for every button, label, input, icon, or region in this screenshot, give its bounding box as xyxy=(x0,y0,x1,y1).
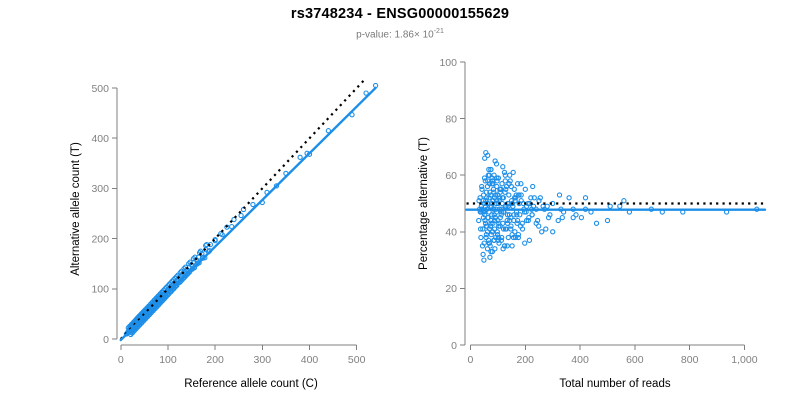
data-point xyxy=(523,187,527,191)
x-tick-label: 1,000 xyxy=(731,354,757,366)
y-axis-title: Alternative allele count (T) xyxy=(70,142,82,276)
data-point xyxy=(503,179,507,183)
fit-line xyxy=(121,88,376,340)
data-point xyxy=(488,255,492,259)
data-point xyxy=(531,184,535,188)
x-tick-label: 600 xyxy=(626,354,644,366)
data-point xyxy=(579,216,583,220)
data-point xyxy=(477,218,481,222)
x-tick-label: 300 xyxy=(254,354,272,366)
axes-group: 02040608010002004006008001,000Total numb… xyxy=(418,57,758,390)
y-tick-label: 80 xyxy=(445,113,457,125)
data-point xyxy=(507,193,511,197)
data-point xyxy=(544,227,548,231)
data-point xyxy=(537,224,541,228)
y-tick-label: 400 xyxy=(91,133,109,145)
data-points-group xyxy=(477,151,759,263)
y-tick-label: 0 xyxy=(103,334,109,346)
x-axis-title: Reference allele count (C) xyxy=(184,378,318,390)
data-point xyxy=(556,218,560,222)
x-tick-label: 500 xyxy=(348,354,366,366)
scatter-panel-allele-counts: 01002003004005000100200300400500Referenc… xyxy=(0,0,410,400)
data-point xyxy=(540,230,544,234)
x-tick-label: 400 xyxy=(571,354,589,366)
data-point xyxy=(583,196,587,200)
data-point xyxy=(571,216,575,220)
data-point xyxy=(239,213,243,217)
y-tick-label: 20 xyxy=(445,283,457,295)
data-point xyxy=(509,227,513,231)
y-tick-label: 40 xyxy=(445,227,457,239)
data-point xyxy=(523,241,527,245)
y-tick-label: 500 xyxy=(91,83,109,95)
allelic-ratio-chart: 02040608010002004006008001,000Total numb… xyxy=(390,0,800,400)
figure-root: rs3748234 - ENSG00000155629 p-value: 1.8… xyxy=(0,0,800,400)
data-point xyxy=(622,199,626,203)
y-tick-label: 60 xyxy=(445,170,457,182)
data-point xyxy=(551,230,555,234)
data-point xyxy=(479,235,483,239)
data-point xyxy=(298,155,302,159)
data-point xyxy=(480,184,484,188)
data-point xyxy=(594,221,598,225)
x-tick-label: 0 xyxy=(118,354,124,366)
data-point xyxy=(508,173,512,177)
data-point xyxy=(482,258,486,262)
data-point xyxy=(618,204,622,208)
data-point xyxy=(251,202,255,206)
x-axis-title: Total number of reads xyxy=(559,378,670,390)
data-point xyxy=(484,235,488,239)
data-point xyxy=(493,247,497,251)
y-tick-label: 200 xyxy=(91,233,109,245)
data-point xyxy=(501,165,505,169)
fit-line-group xyxy=(121,88,376,340)
x-tick-label: 200 xyxy=(206,354,224,366)
data-point xyxy=(557,193,561,197)
data-point xyxy=(481,252,485,256)
y-tick-label: 300 xyxy=(91,183,109,195)
y-axis-title: Percentage alternative (T) xyxy=(418,137,430,270)
y-tick-label: 100 xyxy=(91,284,109,296)
data-point xyxy=(605,218,609,222)
data-point xyxy=(530,213,534,217)
allele-counts-chart: 01002003004005000100200300400500Referenc… xyxy=(0,0,410,400)
x-tick-label: 800 xyxy=(681,354,699,366)
data-point xyxy=(560,216,564,220)
x-tick-label: 100 xyxy=(159,354,177,366)
x-tick-label: 400 xyxy=(301,354,319,366)
data-point xyxy=(527,238,531,242)
scatter-panel-allelic-ratio: 02040608010002004006008001,000Total numb… xyxy=(390,0,800,400)
data-point xyxy=(608,204,612,208)
x-tick-label: 200 xyxy=(517,354,535,366)
x-tick-label: 0 xyxy=(468,354,474,366)
data-point xyxy=(567,196,571,200)
data-point xyxy=(506,235,510,239)
y-tick-label: 0 xyxy=(451,340,457,352)
data-point xyxy=(510,244,514,248)
y-tick-label: 100 xyxy=(439,57,457,69)
